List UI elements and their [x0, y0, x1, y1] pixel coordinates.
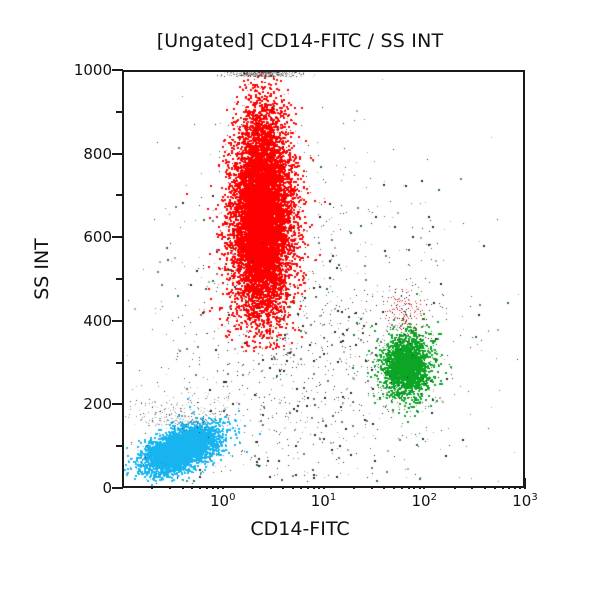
y-tick-label: 400	[83, 312, 112, 330]
x-tick-label: 103	[512, 492, 537, 510]
scatter-plot-canvas	[124, 72, 523, 486]
y-tick-label: 200	[83, 395, 112, 413]
x-tick-label: 102	[412, 492, 437, 510]
x-tick-label: 101	[311, 492, 336, 510]
x-tick-label: 100	[210, 492, 235, 510]
y-tick-label: 800	[83, 145, 112, 163]
flow-cytometry-plot: [Ungated] CD14-FITC / SS INT SS INT CD14…	[0, 0, 600, 600]
x-axis-tick-labels: 100101102103	[0, 492, 600, 516]
scatter-canvas-wrap	[124, 72, 523, 486]
y-tick-label: 1000	[74, 61, 112, 79]
y-tick-label: 600	[83, 228, 112, 246]
